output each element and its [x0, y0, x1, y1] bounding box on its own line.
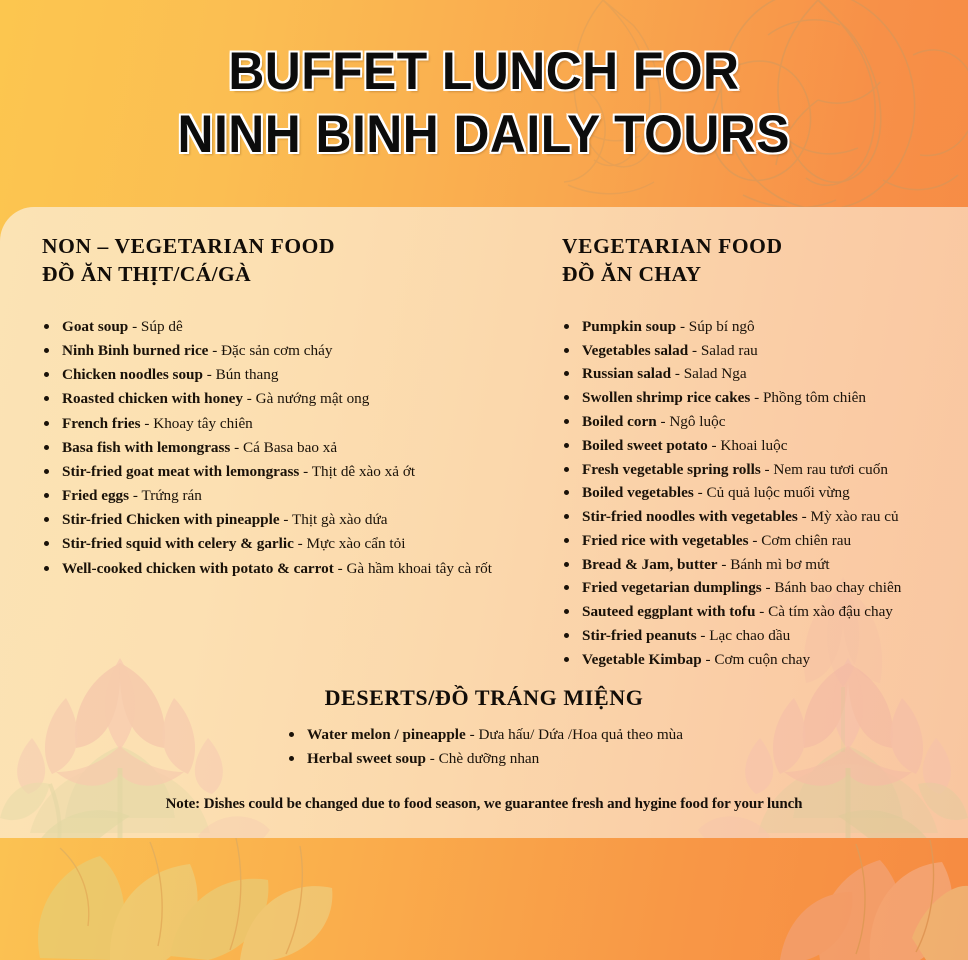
dish-name-vi: Chè dưỡng nhan — [439, 750, 540, 767]
dish-name-vi: Cơm cuộn chay — [714, 651, 810, 668]
dish-item: Herbal sweet soup - Chè dưỡng nhan — [285, 747, 683, 771]
dish-separator: - — [718, 556, 731, 573]
dish-item: Russian salad - Salad Nga — [560, 362, 968, 386]
dish-name-en: Chicken noodles soup — [62, 366, 203, 383]
dish-name-en: Herbal sweet soup — [307, 750, 426, 767]
dish-name-en: Sauteed eggplant with tofu — [582, 603, 755, 620]
dish-item: Fried vegetarian dumplings - Bánh bao ch… — [560, 576, 968, 600]
dish-separator: - — [761, 461, 774, 478]
non-vegetarian-heading-en: NON – VEGETARIAN FOOD — [42, 233, 560, 261]
dish-item: Boiled corn - Ngô luộc — [560, 410, 968, 434]
poster-header: BUFFET LUNCH FOR NINH BINH DAILY TOURS — [0, 0, 968, 207]
dish-separator: - — [129, 487, 141, 504]
dish-name-en: Boiled vegetables — [582, 484, 694, 501]
dish-name-en: Ninh Binh burned rice — [62, 342, 208, 359]
vegetarian-list: Pumpkin soup - Súp bí ngôVegetables sala… — [560, 315, 968, 672]
dish-separator: - — [203, 366, 216, 383]
dish-item: Pumpkin soup - Súp bí ngô — [560, 315, 968, 339]
dish-name-en: Boiled sweet potato — [582, 437, 708, 454]
dish-name-en: Pumpkin soup — [582, 318, 676, 335]
dish-item: Sauteed eggplant with tofu - Cà tím xào … — [560, 600, 968, 624]
dish-name-en: Stir-fried Chicken with pineapple — [62, 511, 280, 528]
dish-separator: - — [657, 413, 670, 430]
dish-name-vi: Salad Nga — [684, 365, 747, 382]
dish-separator: - — [694, 484, 707, 501]
dish-name-vi: Khoay tây chiên — [153, 415, 253, 432]
dish-name-en: Stir-fried noodles with vegetables — [582, 508, 798, 525]
dish-name-en: Stir-fried peanuts — [582, 627, 697, 644]
dish-item: Stir-fried Chicken with pineapple - Thịt… — [40, 508, 560, 532]
dish-item: Fried eggs - Trứng rán — [40, 484, 560, 508]
dish-name-vi: Đặc sản cơm cháy — [221, 342, 332, 359]
dish-separator: - — [466, 726, 479, 743]
dish-name-en: Fried vegetarian dumplings — [582, 579, 762, 596]
dish-separator: - — [426, 750, 439, 767]
dish-name-vi: Súp dê — [141, 318, 183, 335]
dish-item: Basa fish with lemongrass - Cá Basa bao … — [40, 436, 560, 460]
dish-name-vi: Khoai luộc — [720, 437, 787, 454]
dish-item: Stir-fried squid with celery & garlic - … — [40, 532, 560, 556]
dish-separator: - — [280, 511, 292, 528]
dish-name-vi: Gà nướng mật ong — [256, 390, 370, 407]
dish-item: French fries - Khoay tây chiên — [40, 412, 560, 436]
dish-separator: - — [299, 463, 311, 480]
dish-name-vi: Lạc chao dầu — [709, 627, 790, 644]
dish-item: Chicken noodles soup - Bún thang — [40, 363, 560, 387]
dish-name-vi: Súp bí ngô — [689, 318, 755, 335]
non-vegetarian-column: NON – VEGETARIAN FOOD ĐỒ ĂN THỊT/CÁ/GÀ G… — [0, 233, 560, 672]
dish-item: Stir-fried noodles with vegetables - Mỳ … — [560, 505, 968, 529]
dish-name-en: Stir-fried squid with celery & garlic — [62, 535, 294, 552]
dish-separator: - — [676, 318, 689, 335]
dish-name-vi: Dưa hấu/ Dứa /Hoa quả theo mùa — [478, 726, 683, 743]
non-vegetarian-list: Goat soup - Súp dêNinh Binh burned rice … — [40, 315, 560, 581]
dish-separator: - — [334, 560, 347, 577]
dish-separator: - — [294, 535, 307, 552]
dish-name-en: Swollen shrimp rice cakes — [582, 389, 750, 406]
dish-item: Water melon / pineapple - Dưa hấu/ Dứa /… — [285, 723, 683, 747]
dish-separator: - — [750, 389, 763, 406]
dish-name-vi: Mực xào cẩn tỏi — [307, 535, 406, 552]
dish-name-en: Vegetable Kimbap — [582, 651, 702, 668]
dish-item: Ninh Binh burned rice - Đặc sản cơm cháy — [40, 339, 560, 363]
dish-name-vi: Thịt dê xào xả ớt — [312, 463, 415, 480]
dish-name-vi: Salad rau — [701, 342, 758, 359]
dish-separator: - — [702, 651, 715, 668]
dish-item: Roasted chicken with honey - Gà nướng mậ… — [40, 387, 560, 411]
desserts-heading: DESERTS/ĐỒ TRÁNG MIỆNG — [0, 685, 968, 711]
non-vegetarian-heading: NON – VEGETARIAN FOOD ĐỒ ĂN THỊT/CÁ/GÀ — [42, 233, 560, 289]
dish-name-vi: Bún thang — [216, 366, 279, 383]
dish-name-vi: Củ quả luộc muối vừng — [706, 484, 849, 501]
dish-name-en: Water melon / pineapple — [307, 726, 466, 743]
dish-item: Stir-fried goat meat with lemongrass - T… — [40, 460, 560, 484]
dish-separator: - — [671, 365, 684, 382]
dish-name-vi: Cà tím xào đậu chay — [768, 603, 893, 620]
dish-separator: - — [798, 508, 811, 525]
dish-name-vi: Mỳ xào rau củ — [811, 508, 899, 525]
dish-name-vi: Bánh mì bơ mứt — [730, 556, 829, 573]
vegetarian-column: VEGETARIAN FOOD ĐỒ ĂN CHAY Pumpkin soup … — [560, 233, 968, 672]
dish-name-vi: Bánh bao chay chiên — [774, 579, 901, 596]
dish-name-en: Boiled corn — [582, 413, 657, 430]
dish-name-vi: Thịt gà xào dứa — [292, 511, 388, 528]
dish-name-en: Basa fish with lemongrass — [62, 439, 230, 456]
dish-item: Swollen shrimp rice cakes - Phồng tôm ch… — [560, 386, 968, 410]
header-title-line1: BUFFET LUNCH FOR — [228, 44, 739, 100]
dish-item: Vegetable Kimbap - Cơm cuộn chay — [560, 648, 968, 672]
vegetarian-heading-en: VEGETARIAN FOOD — [562, 233, 968, 261]
dish-name-en: French fries — [62, 415, 141, 432]
dish-item: Bread & Jam, butter - Bánh mì bơ mứt — [560, 553, 968, 577]
dish-separator: - — [141, 415, 154, 432]
dish-item: Fried rice with vegetables - Cơm chiên r… — [560, 529, 968, 553]
dish-separator: - — [230, 439, 243, 456]
footer-note: Note: Dishes could be changed due to foo… — [0, 796, 968, 813]
dish-name-vi: Cơm chiên rau — [761, 532, 851, 549]
dish-name-en: Fresh vegetable spring rolls — [582, 461, 761, 478]
dish-item: Boiled vegetables - Củ quả luộc muối vừn… — [560, 481, 968, 505]
header-title-line2: NINH BINH DAILY TOURS — [178, 107, 790, 163]
dish-separator: - — [697, 627, 710, 644]
non-vegetarian-heading-vi: ĐỒ ĂN THỊT/CÁ/GÀ — [42, 261, 560, 289]
dish-name-en: Russian salad — [582, 365, 671, 382]
desserts-list: Water melon / pineapple - Dưa hấu/ Dứa /… — [285, 723, 683, 771]
dish-separator: - — [243, 390, 256, 407]
dish-item: Boiled sweet potato - Khoai luộc — [560, 434, 968, 458]
bottom-decorative-band — [0, 838, 968, 960]
dish-name-en: Well-cooked chicken with potato & carrot — [62, 560, 334, 577]
dish-separator: - — [762, 579, 775, 596]
dish-name-en: Vegetables salad — [582, 342, 688, 359]
dish-name-vi: Ngô luộc — [669, 413, 725, 430]
dish-name-vi: Gà hầm khoai tây cà rốt — [346, 560, 492, 577]
dish-name-en: Bread & Jam, butter — [582, 556, 718, 573]
dish-separator: - — [208, 342, 221, 359]
vegetarian-heading: VEGETARIAN FOOD ĐỒ ĂN CHAY — [562, 233, 968, 289]
dish-item: Well-cooked chicken with potato & carrot… — [40, 557, 560, 581]
dish-name-en: Fried eggs — [62, 487, 129, 504]
dish-name-vi: Nem rau tươi cuốn — [773, 461, 888, 478]
dish-name-en: Stir-fried goat meat with lemongrass — [62, 463, 299, 480]
dish-separator: - — [708, 437, 721, 454]
dish-name-en: Roasted chicken with honey — [62, 390, 243, 407]
dish-separator: - — [749, 532, 762, 549]
dish-item: Fresh vegetable spring rolls - Nem rau t… — [560, 458, 968, 482]
dish-name-vi: Trứng rán — [141, 487, 201, 504]
dish-separator: - — [688, 342, 701, 359]
dish-item: Goat soup - Súp dê — [40, 315, 560, 339]
vegetarian-heading-vi: ĐỒ ĂN CHAY — [562, 261, 968, 289]
dish-item: Stir-fried peanuts - Lạc chao dầu — [560, 624, 968, 648]
dish-item: Vegetables salad - Salad rau — [560, 339, 968, 363]
dish-name-en: Goat soup — [62, 318, 128, 335]
menu-poster: BUFFET LUNCH FOR NINH BINH DAILY TOURS — [0, 0, 968, 960]
dish-separator: - — [128, 318, 141, 335]
menu-columns: NON – VEGETARIAN FOOD ĐỒ ĂN THỊT/CÁ/GÀ G… — [0, 233, 968, 672]
dish-name-vi: Phồng tôm chiên — [763, 389, 866, 406]
dish-name-vi: Cá Basa bao xả — [243, 439, 337, 456]
desserts-section: DESERTS/ĐỒ TRÁNG MIỆNG Water melon / pin… — [0, 685, 968, 771]
dish-separator: - — [755, 603, 768, 620]
dish-name-en: Fried rice with vegetables — [582, 532, 749, 549]
menu-card: NON – VEGETARIAN FOOD ĐỒ ĂN THỊT/CÁ/GÀ G… — [0, 207, 968, 838]
